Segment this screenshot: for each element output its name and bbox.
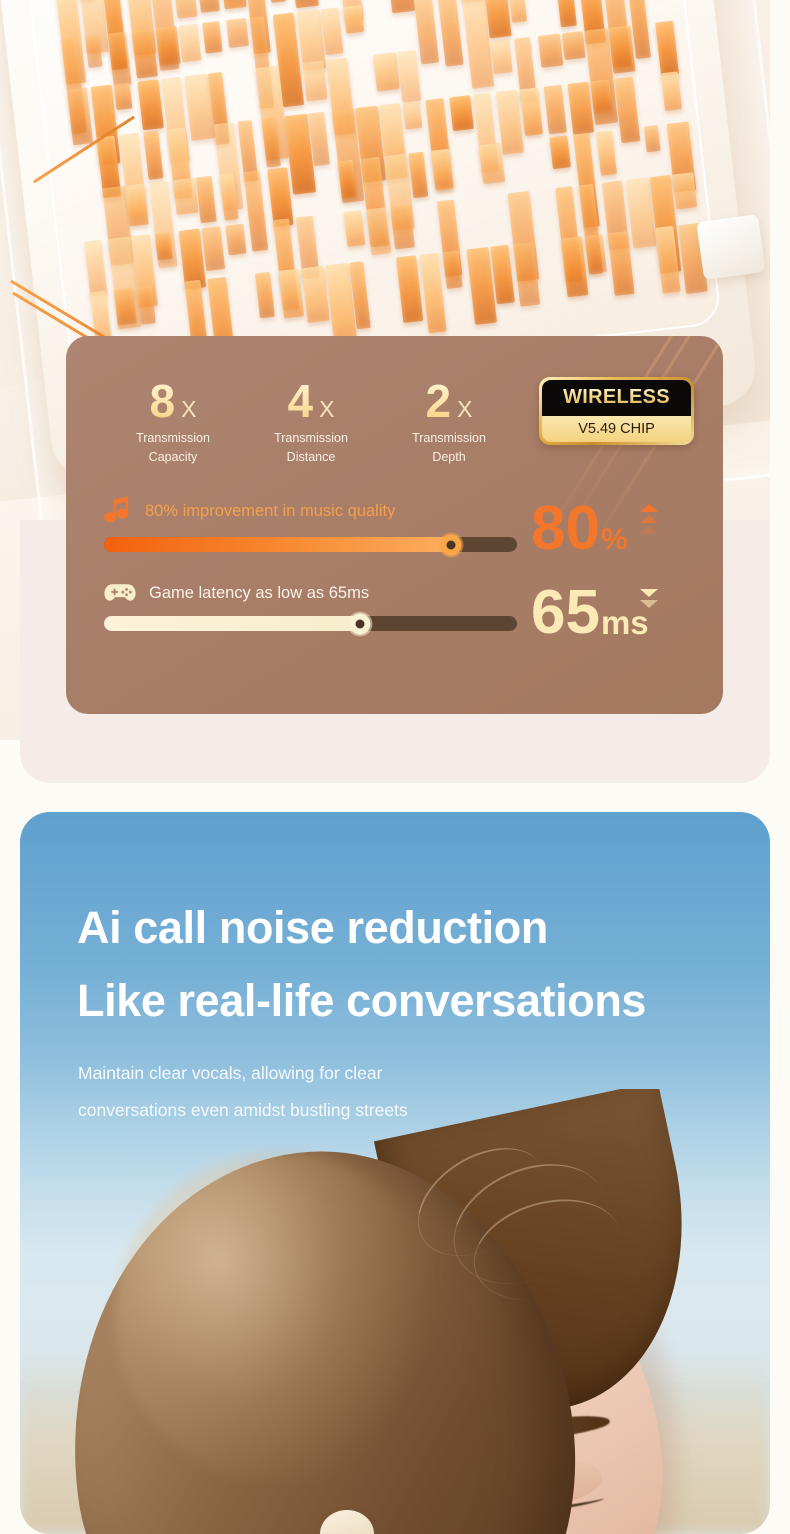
meter-value-unit: % xyxy=(601,525,628,555)
chip-cube xyxy=(608,26,635,75)
chip-cube xyxy=(508,0,527,23)
chip-cube xyxy=(278,269,304,319)
meter-value-unit: ms xyxy=(601,606,649,639)
chip-cube xyxy=(414,0,439,65)
meter-fill xyxy=(104,616,360,631)
chip-cube xyxy=(484,0,511,39)
badge-version-label: V5.49 CHIP xyxy=(578,421,655,437)
stat-transmission-distance: 4 X Transmission Distance xyxy=(242,378,380,467)
chip-cube xyxy=(478,143,505,185)
stat-label-line1: Transmission xyxy=(136,431,210,445)
meter-label: Game latency as low as 65ms xyxy=(149,584,369,603)
chip-cube xyxy=(490,40,512,75)
badge-top: WIRELESS xyxy=(542,380,691,416)
chip-cube xyxy=(555,0,577,28)
meter-knob[interactable] xyxy=(350,613,371,634)
gamepad-icon xyxy=(104,581,136,605)
chip-spec-card: 8 X Transmission Capacity 4 X Transmissi… xyxy=(66,336,723,714)
meter-music-quality: 80% improvement in music quality xyxy=(104,496,517,552)
music-note-icon xyxy=(104,496,132,526)
chip-cube xyxy=(125,184,148,227)
chip-cube xyxy=(655,21,679,77)
chip-cube xyxy=(343,211,365,248)
stat-multiplier: X xyxy=(181,396,196,423)
ai-headline: Ai call noise reduction Like real-life c… xyxy=(77,892,757,1038)
stat-label-line2: Distance xyxy=(287,450,336,464)
chip-cube xyxy=(390,205,414,250)
badge-bottom: V5.49 CHIP xyxy=(542,416,691,442)
chip-cube xyxy=(402,101,423,130)
stat-value: 2 xyxy=(426,378,452,424)
meter-value-number: 65 xyxy=(531,588,600,639)
chip-cube xyxy=(449,95,473,131)
chip-cube xyxy=(590,79,613,114)
chip-cube xyxy=(172,178,198,215)
ai-noise-reduction-section: Ai call noise reduction Like real-life c… xyxy=(20,812,770,1534)
spec-stats-row: 8 X Transmission Capacity 4 X Transmissi… xyxy=(104,378,524,467)
chip-cube xyxy=(113,288,136,326)
chip-cube xyxy=(143,131,163,180)
chip-cube xyxy=(343,5,364,35)
chevron-up-icon xyxy=(640,526,658,534)
chip-cube xyxy=(661,72,682,112)
chevron-down-icon xyxy=(640,589,658,597)
chip-cube xyxy=(614,77,641,144)
stat-label-line2: Capacity xyxy=(149,450,198,464)
stat-label: Transmission Distance xyxy=(242,429,380,467)
stat-multiplier: X xyxy=(457,396,472,423)
meter-fill xyxy=(104,537,451,552)
chip-cube xyxy=(254,273,274,319)
chip-cube xyxy=(643,125,660,153)
chip-cube xyxy=(243,171,269,253)
stat-value: 8 xyxy=(150,378,176,424)
chip-cube xyxy=(596,131,616,177)
chip-cube xyxy=(366,208,391,256)
stat-label-line2: Depth xyxy=(432,450,465,464)
ai-subtitle-line1: Maintain clear vocals, allowing for clea… xyxy=(78,1055,638,1092)
chip-cube xyxy=(114,83,132,111)
ai-headline-line2: Like real-life conversations xyxy=(77,965,757,1038)
chip-cube xyxy=(196,176,217,224)
meter-knob[interactable] xyxy=(440,534,461,555)
stat-transmission-depth: 2 X Transmission Depth xyxy=(380,378,518,467)
chip-cube xyxy=(396,50,421,103)
chip-cube xyxy=(173,0,197,19)
chip-cube xyxy=(567,82,595,136)
stat-label: Transmission Depth xyxy=(380,429,518,467)
meter-value-number: 80 xyxy=(531,504,600,555)
trend-down-icons xyxy=(640,589,658,608)
meter-game-latency: Game latency as low as 65ms xyxy=(104,581,517,631)
chip-cube xyxy=(202,21,222,54)
chip-cube xyxy=(196,0,220,13)
chip-cube xyxy=(437,0,463,67)
chip-cube xyxy=(584,235,607,275)
chip-cube xyxy=(178,24,201,63)
chip-cube xyxy=(520,88,544,136)
meter-track[interactable] xyxy=(104,616,517,631)
chevron-down-icon xyxy=(640,600,658,608)
chip-cube xyxy=(543,85,566,135)
chip-cube xyxy=(202,227,225,272)
chip-cube xyxy=(302,61,327,102)
chip-cube xyxy=(561,31,586,60)
chip-cube xyxy=(225,18,249,48)
stat-label-line1: Transmission xyxy=(274,431,348,445)
chip-cube xyxy=(672,173,697,210)
keycap xyxy=(696,214,765,280)
chip-cube xyxy=(372,52,399,92)
meter-latency-value: 65 ms xyxy=(531,588,649,639)
chip-cube xyxy=(290,0,318,9)
trend-up-icons xyxy=(640,504,658,534)
stat-label: Transmission Capacity xyxy=(104,429,242,467)
chip-spec-section: 8 X Transmission Capacity 4 X Transmissi… xyxy=(0,0,790,785)
chip-cube xyxy=(108,32,132,87)
chip-cube xyxy=(549,136,570,169)
chip-cube xyxy=(225,224,246,255)
chip-cube xyxy=(137,79,164,130)
chip-cube xyxy=(431,149,453,191)
stat-multiplier: X xyxy=(319,396,334,423)
meter-music-value: 80 % xyxy=(531,504,628,555)
chip-cube xyxy=(384,0,414,14)
stat-label-line1: Transmission xyxy=(412,431,486,445)
ai-headline-line1: Ai call noise reduction xyxy=(77,892,757,965)
chip-cube xyxy=(155,26,181,67)
stat-transmission-capacity: 8 X Transmission Capacity xyxy=(104,378,242,467)
chip-cube xyxy=(537,34,563,68)
meter-track[interactable] xyxy=(104,537,517,552)
meter-label: 80% improvement in music quality xyxy=(145,502,395,521)
wireless-chip-badge: WIRELESS V5.49 CHIP xyxy=(539,377,694,445)
stat-value: 4 xyxy=(288,378,314,424)
badge-wireless-label: WIRELESS xyxy=(563,386,670,409)
chip-cube xyxy=(560,237,588,298)
woman-photo xyxy=(20,1089,770,1534)
chevron-up-icon xyxy=(640,504,658,512)
chip-cube xyxy=(154,233,172,261)
chip-cube xyxy=(301,266,329,323)
chevron-up-icon xyxy=(640,515,658,523)
